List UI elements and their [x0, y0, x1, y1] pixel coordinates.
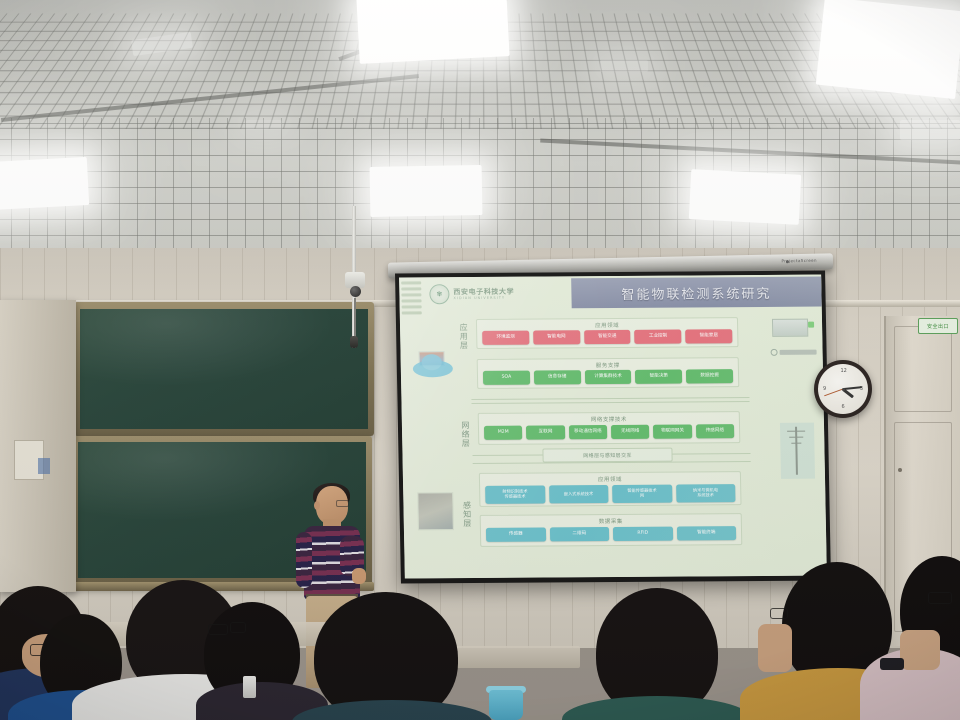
ceiling-light	[370, 165, 483, 217]
chip[interactable]: 传感网络	[696, 424, 735, 438]
audience-glasses-icon	[770, 608, 788, 619]
lecture-hall-photo: ProjectaScreen ✾ 西安电子科技大学 XIDIAN U	[0, 0, 960, 720]
presenter-arm-left	[296, 532, 312, 588]
chip[interactable]: 移动通信网络	[569, 425, 608, 439]
chip[interactable]: 智能决策	[635, 370, 682, 384]
group-perception-application: 应用领域 射频识别技术传感器技术 嵌入式系统技术 智能传感器技术网 纳米与微机电…	[479, 471, 742, 507]
clock-center-pin	[842, 388, 845, 391]
ceiling-light	[356, 0, 509, 64]
interchange-label: 网络层与感知层交互	[542, 448, 672, 463]
door-panel-upper	[894, 326, 952, 412]
layer-label-perception: 感知层	[459, 501, 475, 529]
layer-divider	[472, 401, 750, 404]
tower-arm	[787, 431, 805, 433]
chip[interactable]: 计算集群技术	[584, 370, 631, 384]
chip[interactable]: SOA	[483, 371, 530, 385]
ceiling-light	[246, 120, 282, 130]
magnifier-icon	[770, 347, 816, 357]
water-cup	[489, 690, 523, 720]
exit-sign: 安全出口	[918, 318, 958, 334]
chip[interactable]: 智能电网	[533, 330, 580, 344]
chip-row: M2M 互联网 移动通信网络 无线网络 物联网网关 传感网络	[479, 422, 739, 442]
cloud-shape	[413, 360, 453, 377]
slide-title: 智能物联检测系统研究	[621, 282, 771, 302]
university-logo: ✾ 西安电子科技大学 XIDIAN UNIVERSITY	[429, 284, 514, 305]
chip[interactable]: 互联网	[526, 425, 565, 439]
group-service-support: 服务支撑 SOA 信息存储 计算集群技术 智能决策 数据挖掘	[477, 357, 740, 389]
presenter-ear	[314, 501, 320, 510]
ceiling-light	[689, 169, 801, 225]
presenter-hand	[352, 568, 366, 584]
layer-label-application: 应用层	[456, 323, 472, 351]
audience-glasses-icon	[230, 622, 246, 633]
chip[interactable]: 智能终端	[676, 526, 736, 540]
clock-numeral: 9	[823, 386, 826, 392]
chip[interactable]: 数据挖掘	[686, 369, 733, 383]
wall-clock: 12 3 6 9	[814, 360, 872, 418]
tower-arm	[789, 437, 803, 438]
chip[interactable]: 传感器	[486, 527, 546, 541]
seal-glyph: ✾	[436, 290, 442, 298]
cell-tower-icon	[780, 423, 815, 479]
tower-arm	[791, 443, 801, 444]
chip[interactable]: M2M	[484, 426, 523, 440]
camera-lens-icon	[350, 286, 361, 297]
ceiling-light	[600, 60, 648, 72]
chip[interactable]: 嵌入式系统技术	[549, 485, 609, 503]
chip[interactable]: RFID	[613, 527, 673, 541]
university-name-block: 西安电子科技大学 XIDIAN UNIVERSITY	[453, 287, 514, 300]
chip[interactable]: 环境监测	[482, 331, 529, 345]
ceiling-light	[900, 120, 960, 140]
audience-glasses-icon	[208, 624, 228, 635]
audience-hand	[758, 624, 792, 672]
screen-surface: ✾ 西安电子科技大学 XIDIAN UNIVERSITY 智能物联检测系统研究 …	[399, 275, 827, 579]
hanging-microphone	[350, 336, 358, 348]
chip[interactable]: 智能交通	[584, 330, 631, 344]
chip[interactable]: 二维码	[549, 527, 609, 541]
clock-numeral: 12	[841, 368, 847, 374]
audience-glasses-icon	[928, 592, 952, 604]
university-seal-icon: ✾	[429, 284, 449, 304]
monitor-icon	[772, 319, 816, 343]
chip-row: 传感器 二维码 RFID 智能终端	[481, 524, 741, 544]
chip-row: 射频识别技术传感器技术 嵌入式系统技术 智能传感器技术网 纳米与微机电系统技术	[480, 483, 740, 505]
chip[interactable]: 信息存储	[534, 370, 581, 384]
magnifier-bar	[780, 349, 817, 354]
group-data-acquisition: 数据采集 传感器 二维码 RFID 智能终端	[480, 513, 743, 547]
presenter-glasses-icon	[336, 500, 349, 507]
presentation-slide: ✾ 西安电子科技大学 XIDIAN UNIVERSITY 智能物联检测系统研究 …	[399, 275, 827, 579]
exit-sign-label: 安全出口	[927, 323, 949, 330]
cloud-icon	[413, 351, 454, 379]
chalkboard-surface	[80, 309, 368, 429]
chip[interactable]: 纳米与微机电系统技术	[676, 484, 736, 502]
sensor-device-photo	[417, 492, 454, 530]
slide-title-band: 智能物联检测系统研究	[571, 277, 822, 309]
group-application-domains: 应用领域 环境监测 智能电网 智能交通 工业控制 智能家居	[476, 317, 739, 349]
layer-divider	[473, 461, 751, 464]
layer-divider	[471, 397, 749, 400]
clock-numeral: 6	[842, 404, 845, 410]
chalkboard-glare	[80, 309, 368, 429]
ceiling-light	[0, 157, 89, 211]
door-handle[interactable]	[898, 468, 902, 472]
university-name-cn: 西安电子科技大学	[453, 287, 514, 296]
chip[interactable]: 智能家居	[685, 329, 732, 343]
chip[interactable]: 射频识别技术传感器技术	[485, 485, 545, 503]
clock-second-hand	[824, 389, 843, 397]
layer-label-network: 网络层	[458, 421, 474, 449]
wall-switch-plate	[38, 458, 50, 474]
monitor-status-dot	[808, 322, 814, 328]
green-chalkboard-upper	[74, 302, 374, 436]
university-name-en: XIDIAN UNIVERSITY	[453, 296, 514, 301]
chip-row: 环境监测 智能电网 智能交通 工业控制 智能家居	[477, 328, 737, 346]
slide-header: ✾ 西安电子科技大学 XIDIAN UNIVERSITY 智能物联检测系统研究	[399, 275, 822, 316]
microphone-stem	[354, 298, 356, 340]
audience-hand	[900, 630, 940, 670]
chip[interactable]: 无线网络	[611, 425, 650, 439]
slide-tab-marks	[401, 281, 422, 317]
smartphone[interactable]	[243, 676, 256, 698]
chip[interactable]: 工业控制	[635, 330, 682, 344]
audience-shoulders	[562, 696, 752, 720]
projection-screen: ✾ 西安电子科技大学 XIDIAN UNIVERSITY 智能物联检测系统研究 …	[395, 271, 831, 584]
group-network-support: 网络支撑技术 M2M 互联网 移动通信网络 无线网络 物联网网关 传感网络	[478, 411, 741, 445]
monitor-screen	[772, 319, 808, 337]
chip-row: SOA 信息存储 计算集群技术 智能决策 数据挖掘	[478, 368, 738, 386]
wristwatch	[880, 658, 904, 670]
grid-ceiling	[0, 0, 960, 262]
magnifier-lens	[771, 348, 778, 355]
tower-mast	[795, 427, 798, 475]
screen-brand-mark: ProjectaScreen	[781, 258, 817, 264]
chip[interactable]: 智能传感器技术网	[612, 485, 672, 503]
clock-face: 12 3 6 9	[818, 364, 868, 414]
ceiling-light	[816, 0, 960, 99]
chip[interactable]: 物联网网关	[653, 424, 692, 438]
